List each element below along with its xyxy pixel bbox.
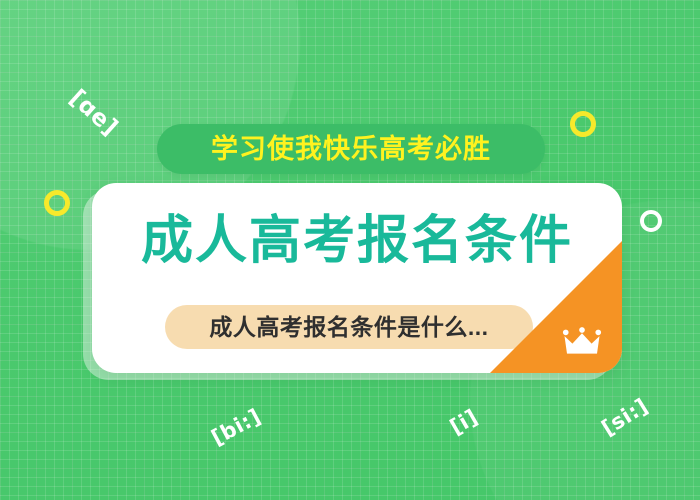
ring-yellow-left xyxy=(44,190,70,216)
subtitle-text: 成人高考报名条件是什么... xyxy=(209,316,488,339)
subtitle-pill: 成人高考报名条件是什么... xyxy=(165,305,533,349)
poster-canvas: [ɑe] [bi:] [i] [si:] 学习使我快乐高考必胜 成人高考报名条件… xyxy=(0,0,700,500)
slogan-banner: 学习使我快乐高考必胜 xyxy=(157,124,545,174)
crown-icon xyxy=(562,327,602,357)
ring-yellow-top xyxy=(570,111,596,137)
main-card: 成人高考报名条件 成人高考报名条件是什么... xyxy=(92,183,622,373)
page-title: 成人高考报名条件 xyxy=(92,215,622,267)
ring-white-right xyxy=(640,210,662,232)
slogan-text: 学习使我快乐高考必胜 xyxy=(211,136,491,163)
